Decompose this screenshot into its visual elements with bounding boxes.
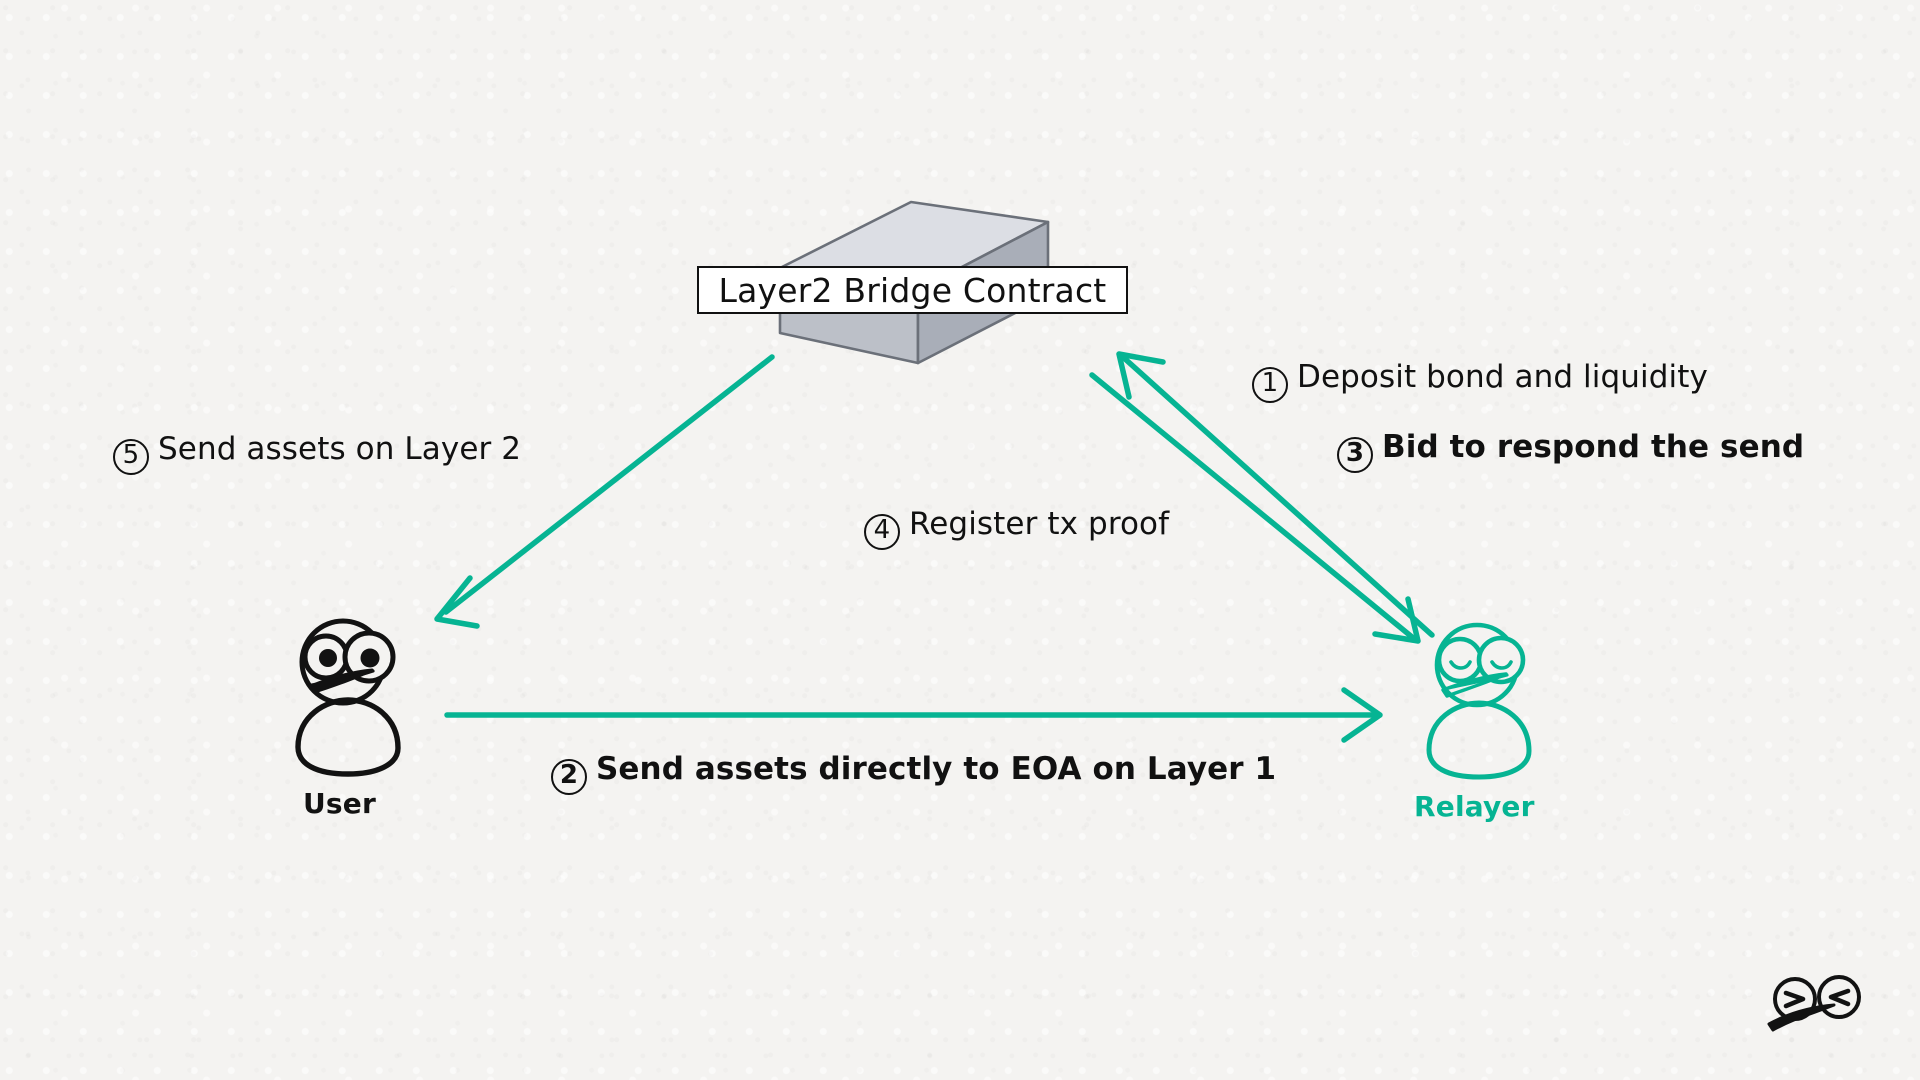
- diagram-canvas: Layer2 Bridge Contract User: [0, 0, 1920, 1080]
- face-doodle-signature-icon: [0, 0, 1920, 1080]
- diagram-scene: Layer2 Bridge Contract User: [0, 0, 1920, 1080]
